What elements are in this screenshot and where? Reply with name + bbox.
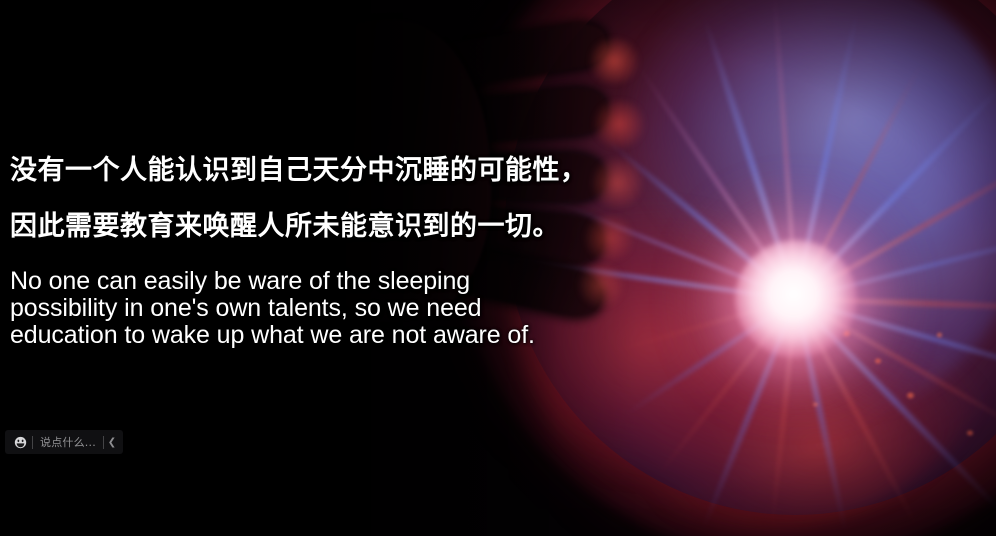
subtitle-english-block: No one can easily be ware of the sleepin… <box>10 268 610 349</box>
subtitle-overlay: 没有一个人能认识到自己天分中沉睡的可能性， 因此需要教育来唤醒人所未能意识到的一… <box>10 142 610 349</box>
video-player-frame[interactable]: 没有一个人能认识到自己天分中沉睡的可能性， 因此需要教育来唤醒人所未能意识到的一… <box>0 0 996 536</box>
subtitle-chinese-line-2: 因此需要教育来唤醒人所未能意识到的一切。 <box>10 198 610 254</box>
smiley-face-icon[interactable] <box>8 430 32 454</box>
chevron-left-icon[interactable]: ❮ <box>104 430 120 454</box>
danmaku-input-bar[interactable]: 说点什么... ❮ <box>5 430 123 454</box>
subtitle-chinese-line-1: 没有一个人能认识到自己天分中沉睡的可能性， <box>10 142 610 198</box>
subtitle-english-line-1: No one can easily be ware of the sleepin… <box>10 268 610 295</box>
subtitle-english-line-3: education to wake up what we are not awa… <box>10 322 610 349</box>
subtitle-english-line-2: possibility in one's own talents, so we … <box>10 295 610 322</box>
danmaku-text-input[interactable]: 说点什么... <box>33 430 103 454</box>
